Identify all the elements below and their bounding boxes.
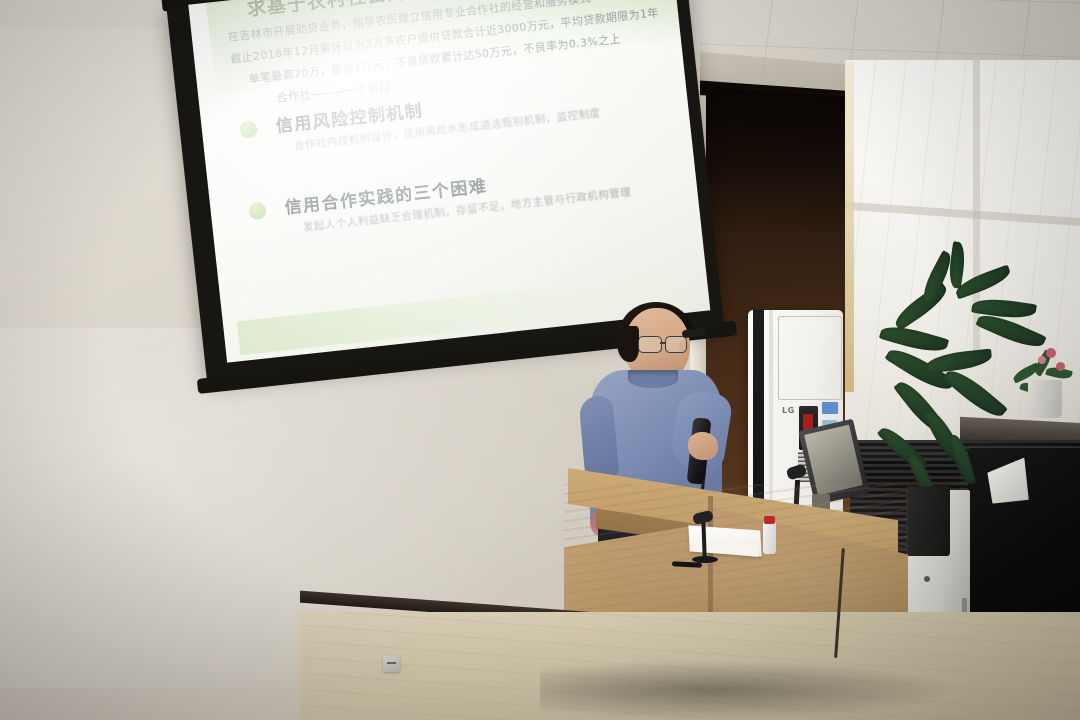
- plant-leaf: [925, 349, 993, 374]
- presenter-hair-side: [617, 326, 639, 362]
- flower-bloom: [1046, 348, 1056, 358]
- ac-brand-logo: LG: [782, 406, 795, 415]
- water-bottle[interactable]: [763, 522, 776, 554]
- window-frame-left: [845, 62, 854, 393]
- floor-shadow: [540, 660, 960, 720]
- bullet-dot-icon: [248, 202, 267, 221]
- cabinet-hole: [924, 576, 930, 582]
- ac-front-panel: [778, 316, 842, 400]
- slide-bullet-2: 信用合作实践的三个困难 发起人个人利益缺乏合理机制，存留不足，地方主管与行政机构…: [248, 153, 675, 199]
- photo-scene: 求基于农村社会网络的民间借贷 在吉林市开展助贷业务，指导农民建立信用专业合作社的…: [0, 0, 1080, 720]
- bullet-dot-icon: [239, 120, 258, 139]
- sweater-collar: [628, 370, 678, 388]
- presenter-hand: [688, 432, 718, 460]
- small-plant-pot: [1028, 380, 1062, 418]
- plant-leaf: [891, 282, 952, 331]
- wall-outlet-slot: [387, 662, 396, 664]
- eyeglasses: [638, 336, 696, 351]
- eyeglass-lens-left: [638, 336, 662, 353]
- wall-outlet[interactable]: [383, 656, 400, 672]
- table-microphone-base: [692, 556, 718, 563]
- flower-bloom: [1038, 356, 1046, 364]
- flower-bloom: [1056, 362, 1065, 371]
- water-bottle-cap: [764, 516, 775, 524]
- plant-leaf: [942, 364, 1008, 424]
- headset-earpiece: [682, 328, 707, 338]
- eyeglass-lens-right: [665, 336, 687, 353]
- ac-badge-1: [822, 402, 838, 414]
